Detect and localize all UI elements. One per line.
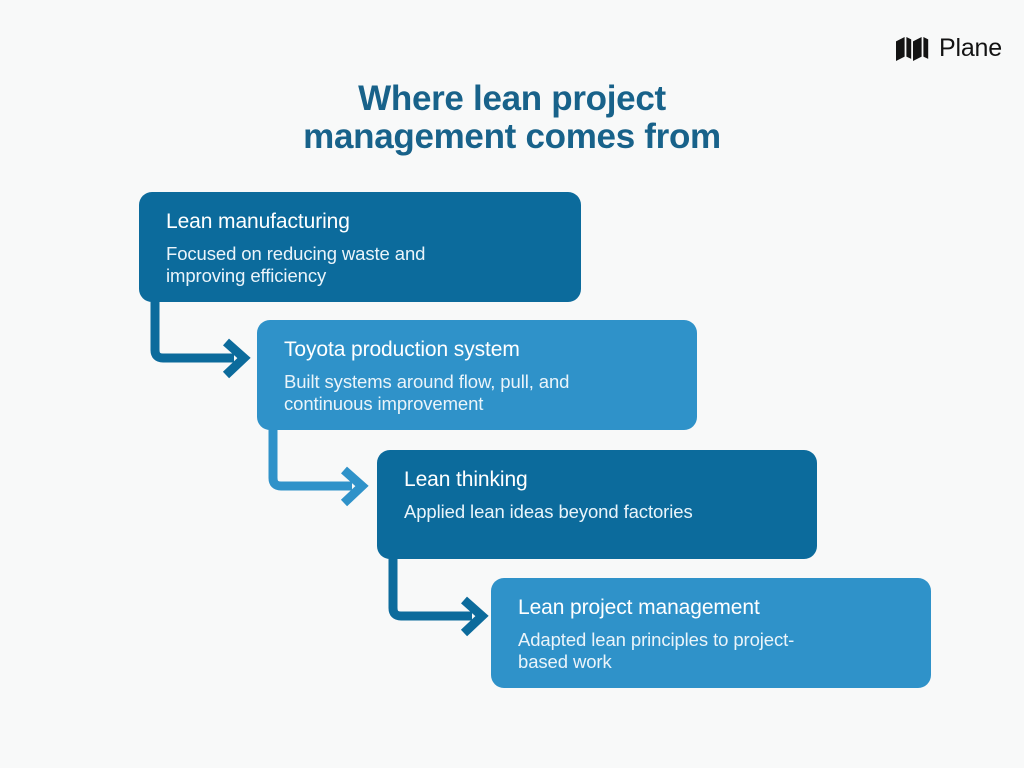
brand-logo: Plane (896, 36, 1002, 61)
step-card-body: Applied lean ideas beyond factories (404, 501, 790, 523)
brand-name: Plane (939, 36, 1002, 61)
page-title-line-1: Where lean project (0, 80, 1024, 118)
connector-arrow-1 (150, 292, 270, 392)
step-card-toyota-production-system[interactable]: Toyota production system Built systems a… (257, 320, 697, 430)
step-card-title: Lean manufacturing (166, 209, 554, 234)
step-card-body: Focused on reducing waste and improving … (166, 243, 496, 287)
step-card-title: Lean project management (518, 595, 904, 620)
step-card-lean-manufacturing[interactable]: Lean manufacturing Focused on reducing w… (139, 192, 581, 302)
step-card-body-line-2: based work (518, 651, 612, 672)
step-card-body-line-1: Focused on reducing waste and (166, 243, 425, 264)
step-card-title: Lean thinking (404, 467, 790, 492)
page-title-line-2: management comes from (0, 118, 1024, 156)
step-card-body-line-1: Built systems around flow, pull, and (284, 371, 569, 392)
step-card-lean-project-management[interactable]: Lean project management Adapted lean pri… (491, 578, 931, 688)
plane-logo-mark-icon (896, 37, 930, 61)
step-card-body-line-1: Applied lean ideas beyond factories (404, 501, 693, 522)
slide-canvas: Plane Where lean project management come… (0, 0, 1024, 768)
step-card-body: Built systems around flow, pull, and con… (284, 371, 614, 415)
step-card-lean-thinking[interactable]: Lean thinking Applied lean ideas beyond … (377, 450, 817, 559)
page-title: Where lean project management comes from (0, 80, 1024, 156)
step-card-title: Toyota production system (284, 337, 670, 362)
step-card-body-line-1: Adapted lean principles to project- (518, 629, 794, 650)
step-card-body: Adapted lean principles to project- base… (518, 629, 848, 673)
connector-arrow-3 (388, 550, 508, 650)
connector-arrow-2 (268, 420, 388, 520)
step-card-body-line-2: continuous improvement (284, 393, 483, 414)
step-card-body-line-2: improving efficiency (166, 265, 326, 286)
